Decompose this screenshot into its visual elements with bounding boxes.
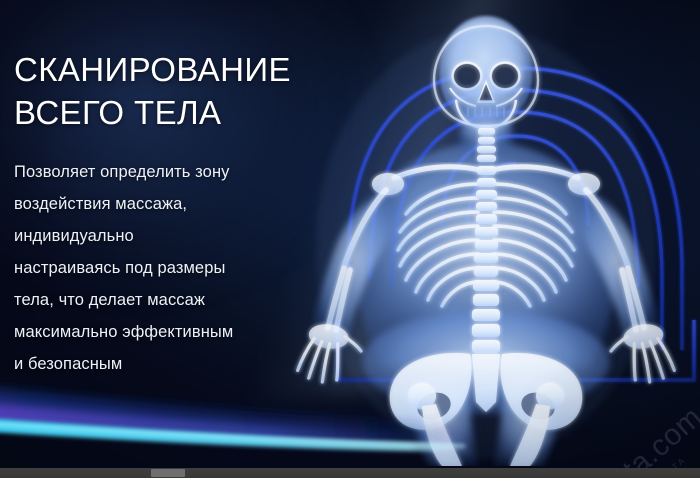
banner-image: СКАНИРОВАНИЕ ВСЕГО ТЕЛА Позволяет опреде… [0, 0, 700, 478]
horizontal-scrollbar[interactable] [0, 468, 700, 478]
scrollbar-thumb[interactable] [151, 469, 185, 477]
description-text: Позволяет определить зону воздействия ма… [14, 156, 334, 380]
copy-block: СКАНИРОВАНИЕ ВСЕГО ТЕЛА Позволяет опреде… [14, 48, 334, 380]
page-title: СКАНИРОВАНИЕ ВСЕГО ТЕЛА [14, 48, 334, 134]
